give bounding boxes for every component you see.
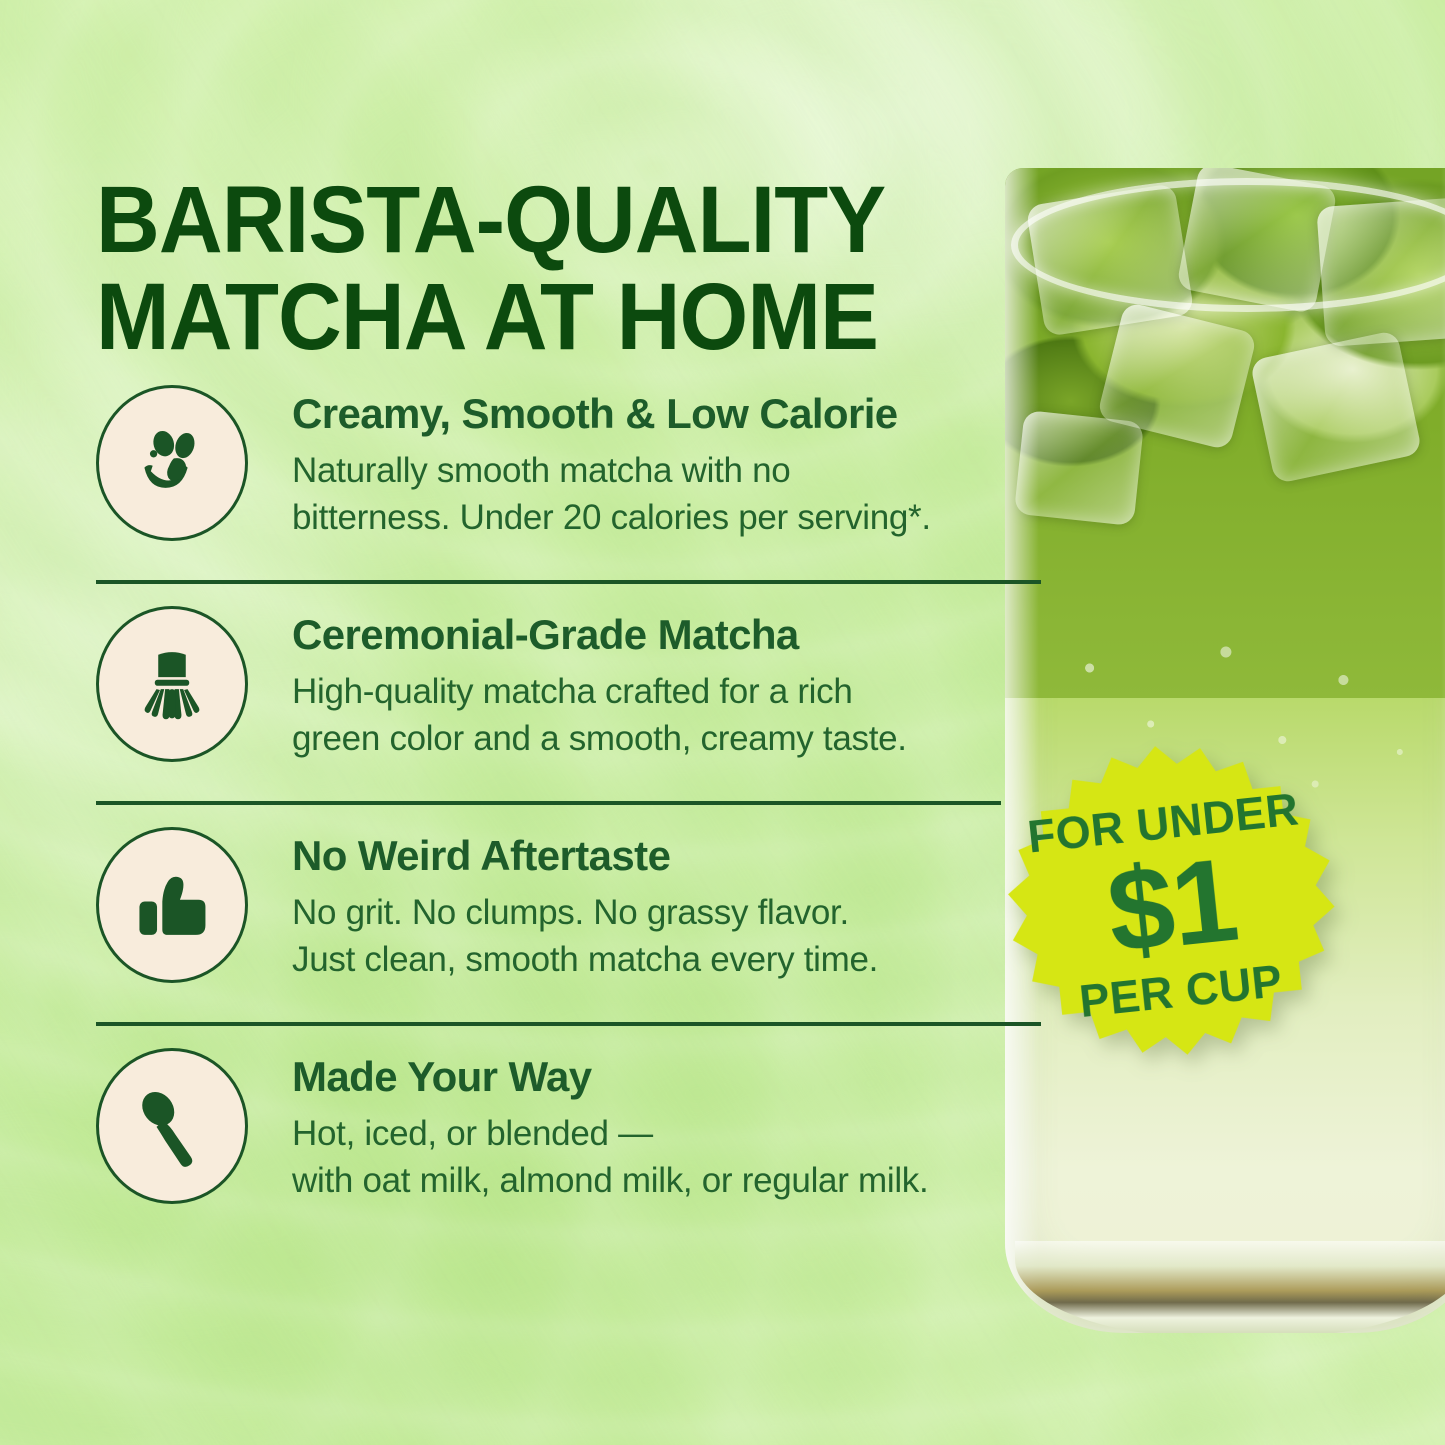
feature-title: No Weird Aftertaste xyxy=(292,833,1046,878)
feature-list: Creamy, Smooth & Low Calorie Naturally s… xyxy=(96,385,1046,1233)
thumbs-up-icon xyxy=(96,827,248,983)
feature-description: Hot, iced, or blended — with oat milk, a… xyxy=(292,1111,1046,1204)
feature-text-block: Ceremonial-Grade Matcha High-quality mat… xyxy=(292,606,1046,762)
matcha-promo-poster: BARISTA-QUALITY MATCHA AT HOME Creamy, S… xyxy=(0,0,1445,1445)
feature-divider xyxy=(96,580,1041,584)
feature-text-block: No Weird Aftertaste No grit. No clumps. … xyxy=(292,827,1046,983)
feature-title: Made Your Way xyxy=(292,1054,1046,1099)
badge-price: $1 xyxy=(1102,841,1241,972)
feature-description: Naturally smooth matcha with no bitterne… xyxy=(292,448,1046,541)
feature-title: Ceremonial-Grade Matcha xyxy=(292,612,1046,657)
badge-bottom-label: PER CUP xyxy=(1077,958,1284,1024)
feature-title: Creamy, Smooth & Low Calorie xyxy=(292,391,1046,436)
feature-divider xyxy=(96,1022,1041,1026)
price-starburst-badge: FOR UNDER $1 PER CUP xyxy=(991,726,1354,1089)
feature-text-block: Made Your Way Hot, iced, or blended — wi… xyxy=(292,1048,1046,1204)
page-title: BARISTA-QUALITY MATCHA AT HOME xyxy=(96,172,933,368)
matcha-whisk-icon xyxy=(96,606,248,762)
feature-item-creamy-smooth-low-calorie: Creamy, Smooth & Low Calorie Naturally s… xyxy=(96,385,1046,570)
spoon-icon xyxy=(96,1048,248,1204)
feature-item-made-your-way: Made Your Way Hot, iced, or blended — wi… xyxy=(96,1048,1046,1233)
feature-item-ceremonial-grade-matcha: Ceremonial-Grade Matcha High-quality mat… xyxy=(96,606,1046,791)
feature-divider xyxy=(96,801,1001,805)
feature-description: No grit. No clumps. No grassy flavor. Ju… xyxy=(292,890,1046,983)
feature-description: High-quality matcha crafted for a rich g… xyxy=(292,669,1046,762)
smiling-face-sprout-icon xyxy=(96,385,248,541)
feature-item-no-weird-aftertaste: No Weird Aftertaste No grit. No clumps. … xyxy=(96,827,1046,1012)
badge-text-block: FOR UNDER $1 PER CUP xyxy=(991,726,1354,1089)
feature-text-block: Creamy, Smooth & Low Calorie Naturally s… xyxy=(292,385,1046,541)
